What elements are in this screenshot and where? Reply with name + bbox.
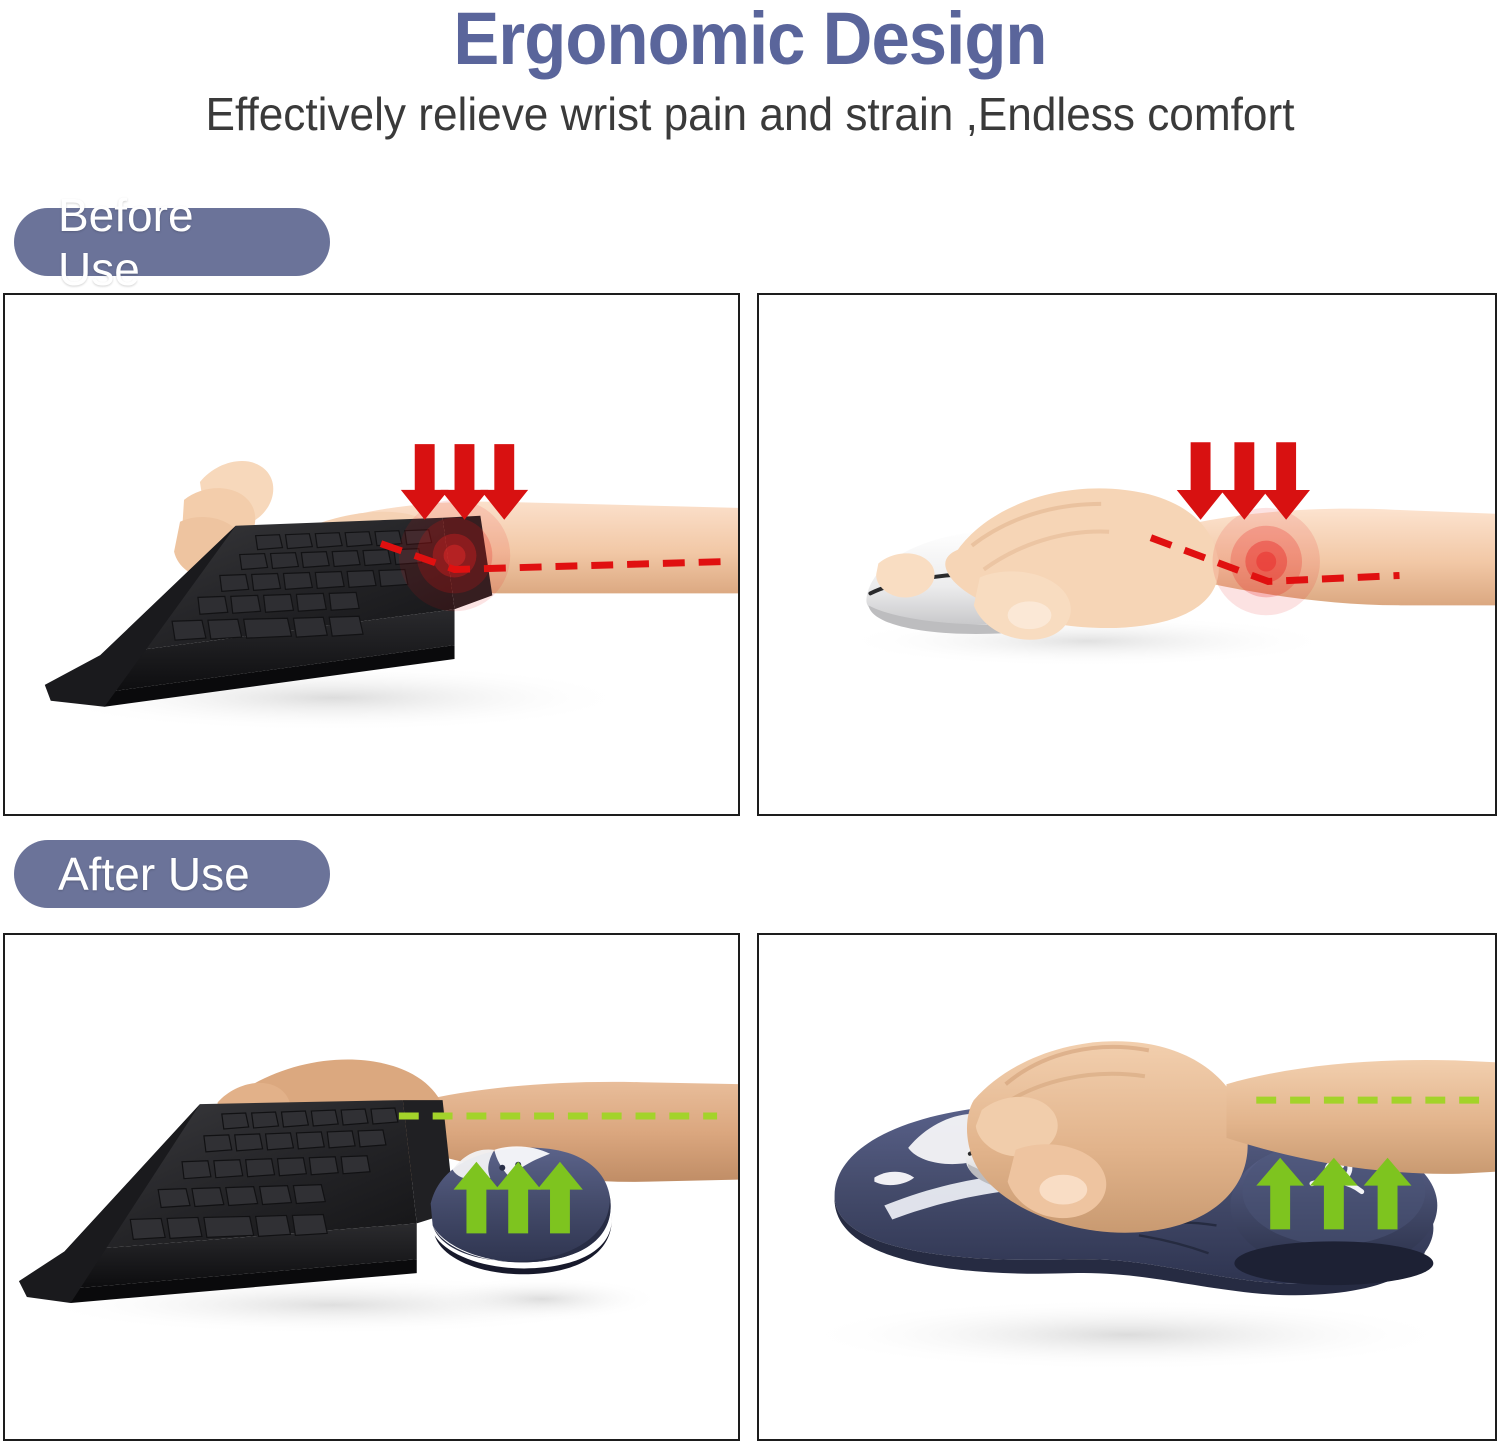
before-mouse-illustration [759,295,1495,815]
keyboard [19,1100,455,1303]
support-arrows [1256,1158,1411,1230]
panel-after-mouse: Hand on a white mouse resting on the nav… [757,933,1497,1441]
panel-before-keyboard: Hand typing on a black mechanical keyboa… [3,293,740,816]
badge-after-use-label: After Use [58,847,250,901]
panel-before-mouse: Hand on a white mouse with no wrist supp… [757,293,1497,816]
infographic-page: Ergonomic Design Effectively relieve wri… [0,0,1500,1447]
panel-after-keyboard: Hand typing on a black keyboard supporte… [3,933,740,1441]
pain-glow [1213,508,1320,615]
pressure-arrows [1177,442,1310,520]
support-arrows [454,1162,583,1234]
page-title: Ergonomic Design [53,2,1448,76]
after-keyboard-illustration [5,935,738,1440]
page-subtitle: Effectively relieve wrist pain and strai… [30,88,1470,140]
badge-after-use: After Use [14,840,330,908]
after-mouse-illustration [759,935,1495,1440]
badge-before-use-label: Before Use [58,188,286,296]
before-keyboard-illustration [5,295,738,815]
pressure-arrows [401,444,528,520]
badge-before-use: Before Use [14,208,330,276]
